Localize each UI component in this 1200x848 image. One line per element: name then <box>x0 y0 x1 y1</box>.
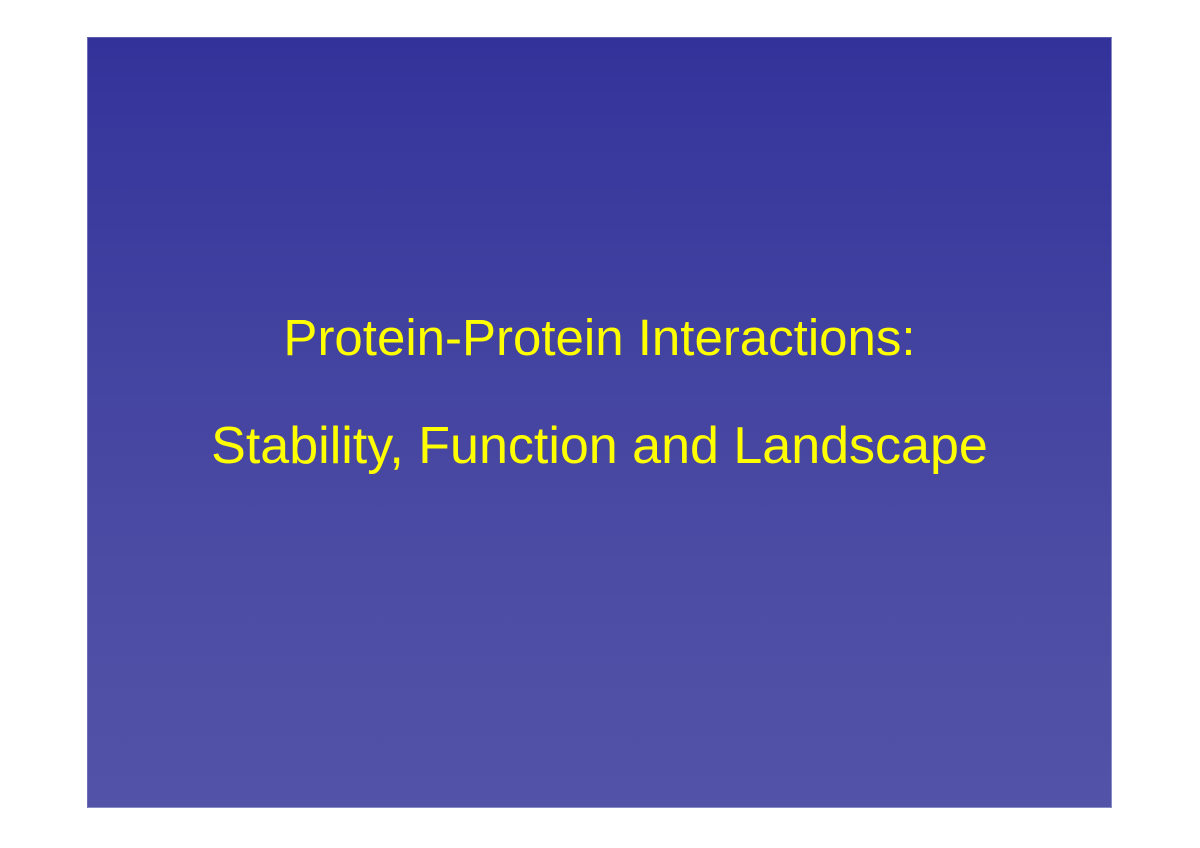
slide-title: Protein-Protein Interactions: Stability,… <box>88 284 1111 500</box>
slide-background: Protein-Protein Interactions: Stability,… <box>87 37 1112 808</box>
slide-canvas: Protein-Protein Interactions: Stability,… <box>0 0 1200 848</box>
title-line-primary: Protein-Protein Interactions: <box>88 284 1111 392</box>
title-line-secondary: Stability, Function and Landscape <box>88 392 1111 500</box>
